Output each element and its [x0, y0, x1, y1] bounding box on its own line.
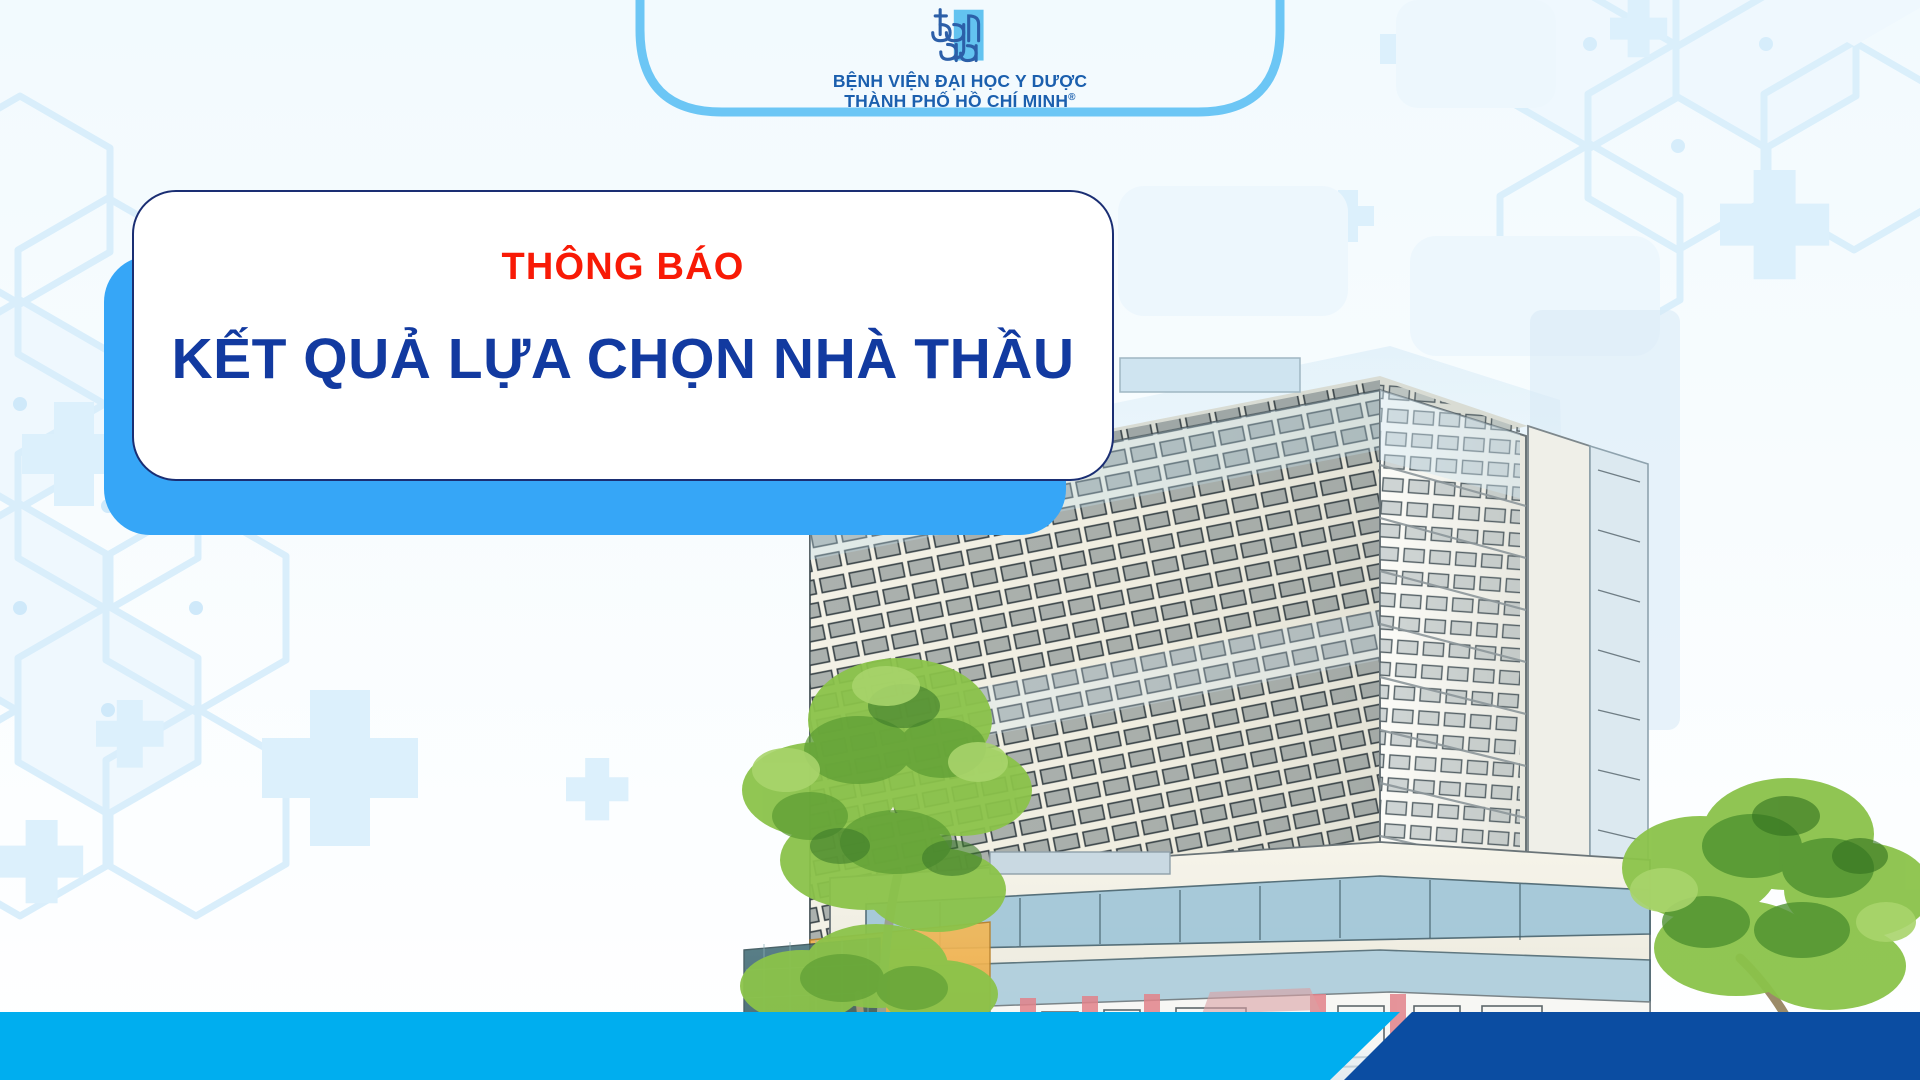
decor-svg	[0, 0, 1920, 1080]
announcement-card: THÔNG BÁO KẾT QUẢ LỰA CHỌN NHÀ THẦU	[104, 190, 1114, 535]
page-title: KẾT QUẢ LỰA CHỌN NHÀ THẦU	[171, 330, 1074, 390]
bottom-bar	[0, 1004, 1920, 1080]
hospital-logo-block: BỆNH VIỆN ĐẠI HỌC Y DƯỢC THÀNH PHỐ HỒ CH…	[725, 6, 1195, 111]
hexagon-cluster-right	[1500, 0, 1920, 352]
hexagon-node-dots-right	[1583, 37, 1773, 153]
secondary-tower	[1528, 426, 1648, 992]
tower-side-face	[1326, 364, 1593, 1058]
card-body: THÔNG BÁO KẾT QUẢ LỰA CHỌN NHÀ THẦU	[132, 190, 1114, 481]
banner-canvas: BỆNH VIỆN ĐẠI HỌC Y DƯỢC THÀNH PHỐ HỒ CH…	[0, 0, 1920, 1080]
bvdhyd-monogram-logo-icon	[929, 6, 991, 68]
logo-org-line-2-text: THÀNH PHỐ HỒ CHÍ MINH	[844, 91, 1068, 111]
bottom-bar-shapes	[0, 1004, 1920, 1080]
logo-org-line-1: BỆNH VIỆN ĐẠI HỌC Y DƯỢC	[725, 72, 1195, 92]
logo-org-line-2: THÀNH PHỐ HỒ CHÍ MINH®	[725, 92, 1195, 112]
registered-mark: ®	[1068, 92, 1076, 103]
bottom-bar-navy	[1344, 1012, 1920, 1080]
bottom-bar-cyan	[0, 1012, 1400, 1080]
notice-kicker: THÔNG BÁO	[501, 248, 744, 286]
tree-large-left	[742, 658, 1032, 1060]
background-decoration	[0, 0, 1920, 1080]
